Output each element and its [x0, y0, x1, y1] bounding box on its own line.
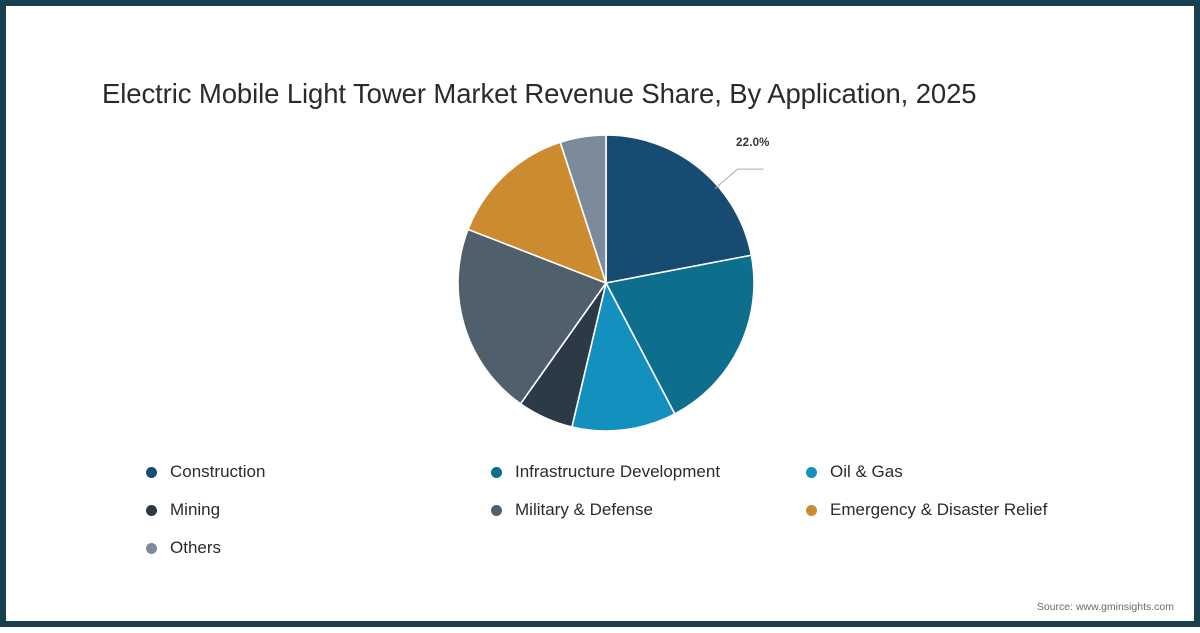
chart-legend: ConstructionInfrastructure DevelopmentOi… [146, 453, 1106, 567]
legend-item-label: Infrastructure Development [515, 462, 720, 482]
legend-row: Others [146, 529, 1106, 567]
pie-slice[interactable]: Construction 22% [606, 135, 751, 283]
legend-row: ConstructionInfrastructure DevelopmentOi… [146, 453, 1106, 491]
legend-color-swatch-icon [146, 505, 157, 516]
pie-slice[interactable]: Mining 6.1% [521, 283, 606, 427]
legend-item-label: Others [170, 538, 221, 558]
legend-item[interactable]: Oil & Gas [806, 462, 1106, 482]
callout-leader-line [715, 169, 764, 189]
legend-item[interactable]: Others [146, 538, 491, 558]
pie-slice-group: Construction 22%Infrastructure Developme… [458, 135, 754, 431]
pie-slice[interactable]: Others 5% [560, 135, 606, 283]
legend-color-swatch-icon [491, 467, 502, 478]
pie-chart-svg: Construction 22%Infrastructure Developme… [436, 116, 776, 456]
source-attribution: Source: www.gminsights.com [1037, 601, 1174, 613]
legend-item-label: Emergency & Disaster Relief [830, 500, 1047, 520]
legend-color-swatch-icon [146, 467, 157, 478]
legend-item[interactable]: Military & Defense [491, 500, 806, 520]
legend-item[interactable]: Emergency & Disaster Relief [806, 500, 1106, 520]
pie-slice[interactable]: Infrastructure Development 20.3% [606, 255, 754, 414]
legend-item-label: Military & Defense [515, 500, 653, 520]
legend-item[interactable]: Infrastructure Development [491, 462, 806, 482]
slice-value-label: 22.0% [736, 137, 770, 149]
legend-color-swatch-icon [806, 505, 817, 516]
legend-item-label: Oil & Gas [830, 462, 903, 482]
legend-color-swatch-icon [491, 505, 502, 516]
legend-item[interactable]: Mining [146, 500, 491, 520]
legend-color-swatch-icon [806, 467, 817, 478]
page-title: Electric Mobile Light Tower Market Reven… [102, 78, 1122, 110]
legend-item-label: Construction [170, 462, 265, 482]
chart-figure: Electric Mobile Light Tower Market Reven… [0, 0, 1200, 627]
pie-slice[interactable]: Military & Defense 21.1% [458, 229, 606, 403]
legend-row: MiningMilitary & DefenseEmergency & Disa… [146, 491, 1106, 529]
legend-color-swatch-icon [146, 543, 157, 554]
legend-item-label: Mining [170, 500, 220, 520]
pie-slice[interactable]: Emergency & Disaster Relief 14.1% [468, 142, 606, 283]
pie-slice[interactable]: Oil & Gas 11.4% [572, 283, 675, 431]
legend-item[interactable]: Construction [146, 462, 491, 482]
